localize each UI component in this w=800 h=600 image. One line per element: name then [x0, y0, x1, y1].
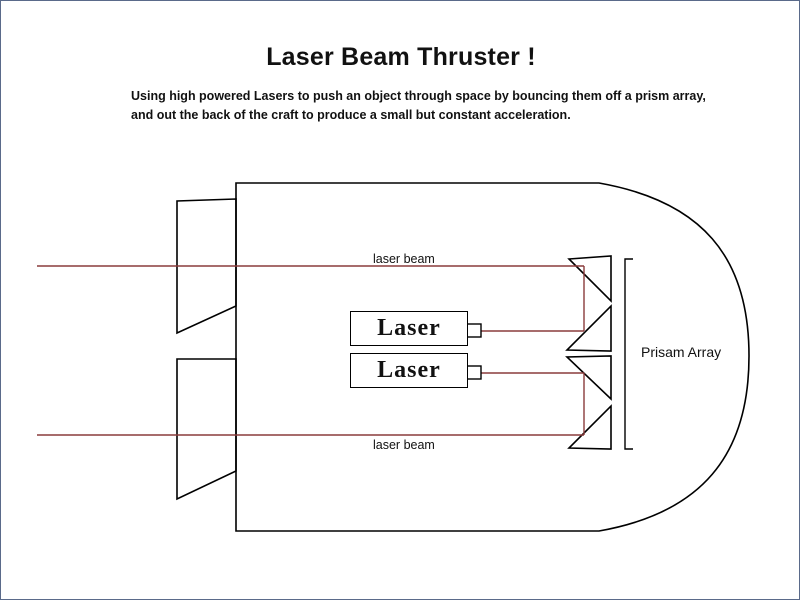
laser-box-top-label: Laser [377, 315, 441, 342]
nozzle-lower [177, 359, 236, 499]
laser-box-bottom: Laser [350, 353, 468, 388]
laser-emitter-top [467, 324, 481, 337]
diagram-page: Laser Beam Thruster ! Using high powered… [0, 0, 800, 600]
prism-top [569, 256, 611, 301]
spacecraft-diagram [1, 1, 800, 600]
prism-lower-middle [567, 356, 611, 399]
prism-bottom [569, 406, 611, 449]
label-prism-array: Prisam Array [641, 344, 721, 360]
laser-emitter-bottom [467, 366, 481, 379]
prism-upper-middle [567, 306, 611, 351]
prism-array-bracket [625, 259, 633, 449]
laser-box-top: Laser [350, 311, 468, 346]
laser-box-bottom-label: Laser [377, 357, 441, 384]
label-laser-beam-bottom: laser beam [373, 438, 435, 452]
label-laser-beam-top: laser beam [373, 252, 435, 266]
